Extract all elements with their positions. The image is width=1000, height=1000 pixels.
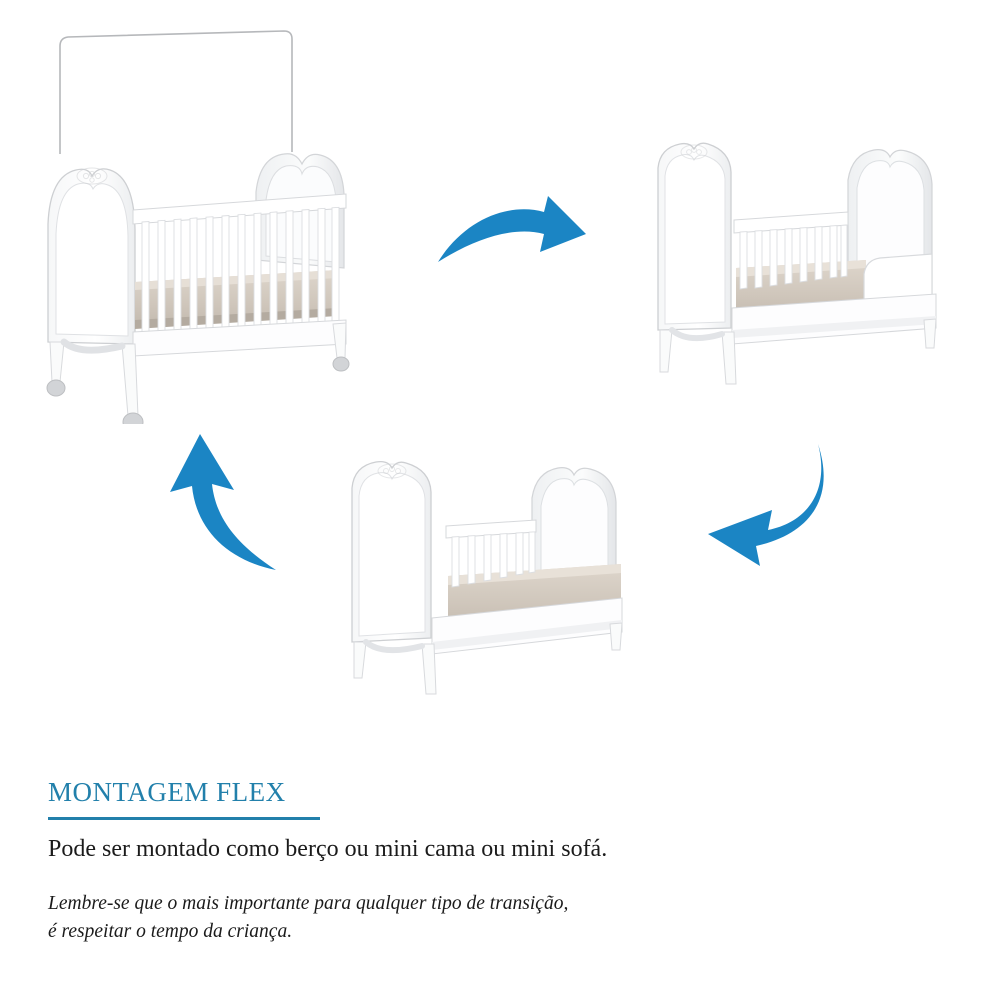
lead-paragraph: Pode ser montado como berço ou mini cama… (48, 834, 958, 864)
berco-near-headboard (48, 168, 135, 344)
infographic-page: MONTAGEM FLEX Pode ser montado como berç… (0, 0, 1000, 1000)
arrow-up-left-icon (148, 428, 288, 574)
figure-berco (34, 24, 384, 424)
note-line-1: Lembre-se que o mais importante para qua… (48, 890, 958, 918)
minisofa-near-headboard (352, 462, 431, 642)
arrow-berco-to-minicama (436, 190, 596, 270)
arrow-down-left-icon (690, 438, 840, 573)
arrow-right-icon (436, 190, 596, 270)
illustration-area (0, 0, 1000, 760)
note-line-2: é respeitar o tempo da criança. (48, 918, 958, 946)
mini-cama-illustration (636, 132, 976, 394)
text-block: MONTAGEM FLEX Pode ser montado como berç… (48, 778, 958, 946)
mini-sofa-illustration (336, 452, 676, 702)
figure-mini-cama (636, 132, 976, 394)
title-underline (48, 817, 320, 820)
arrow-minisofa-to-berco (148, 428, 288, 574)
berco-casters (47, 357, 349, 424)
note-paragraph: Lembre-se que o mais importante para qua… (48, 890, 958, 947)
berco-illustration (34, 24, 384, 424)
arrow-minicama-to-minisofa (690, 438, 840, 573)
section-title: MONTAGEM FLEX (48, 778, 958, 808)
figure-mini-sofa (336, 452, 676, 702)
minicama-near-headboard (658, 143, 731, 330)
canopy-rod (60, 31, 292, 154)
